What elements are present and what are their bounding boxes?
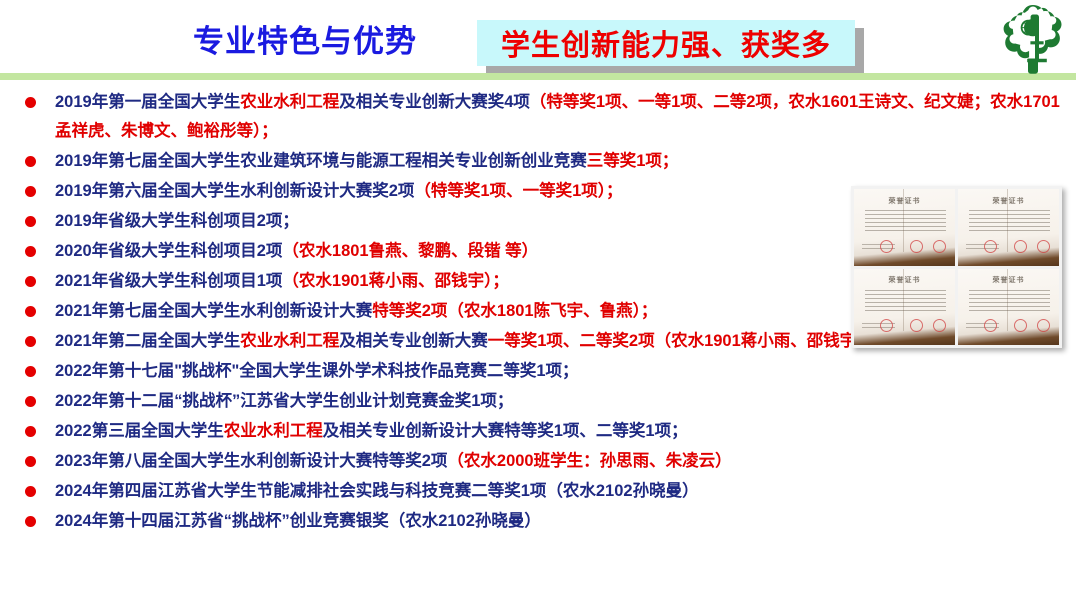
list-item-text: 2024年第十四届江苏省“挑战杯”创业竞赛银奖（农水2102孙晓曼） xyxy=(55,512,541,530)
list-item-text: 2019年第一届全国大学生 xyxy=(55,93,240,111)
certificate-seal-icon xyxy=(1014,240,1027,253)
list-item: 2019年第七届全国大学生农业建筑环境与能源工程相关专业创新创业竞赛三等奖1项； xyxy=(0,147,1076,176)
page-title: 专业特色与优势 xyxy=(193,20,417,64)
certificate-seal-icon xyxy=(910,319,923,332)
list-item-text: 2023年第八届全国大学生水利创新设计大赛特等奖2项 xyxy=(55,452,447,470)
list-item-text: 2019年第六届全国大学生水利创新设计大赛奖2项 xyxy=(55,182,414,200)
certificate-seal-icon xyxy=(933,319,946,332)
certificate-seal-icon xyxy=(1037,319,1050,332)
list-item-text: 农业水利工程 xyxy=(240,93,339,111)
certificate-text-lines xyxy=(969,210,1050,234)
certificate-tile: 荣誉证书 xyxy=(854,269,955,346)
list-item-text: 农业水利工程 xyxy=(240,332,339,350)
list-item: 2022年第十七届"挑战杯"全国大学生课外学术科技作品竞赛二等奖1项； xyxy=(0,357,1076,386)
list-item-text: 2024年第四届江苏省大学生节能减排社会实践与科技竞赛二等奖1项（农水2102孙… xyxy=(55,482,699,500)
list-item-text: （特等奖1项、一等奖1项）； xyxy=(414,182,622,200)
bullet-dot-icon xyxy=(25,97,36,108)
certificate-title: 荣誉证书 xyxy=(854,275,955,285)
list-item: 2022第三届全国大学生农业水利工程及相关专业创新设计大赛特等奖1项、二等奖1项… xyxy=(0,417,1076,446)
list-item-text: 2021年省级大学生科创项目1项 xyxy=(55,272,282,290)
bullet-dot-icon xyxy=(25,246,36,257)
list-item-text: 2020年省级大学生科创项目2项 xyxy=(55,242,282,260)
certificate-seal-icon xyxy=(910,240,923,253)
slide-header: 专业特色与优势 学生创新能力强、获奖多 xyxy=(0,0,1076,82)
certificate-seal-icon xyxy=(1014,319,1027,332)
list-item-text: 2022年第十七届"挑战杯"全国大学生课外学术科技作品竞赛二等奖1项； xyxy=(55,362,579,380)
list-item: 2022年第十二届“挑战杯”江苏省大学生创业计划竞赛金奖1项； xyxy=(0,387,1076,416)
list-item-text: 2021年第七届全国大学生水利创新设计大赛 xyxy=(55,302,372,320)
university-emblem-icon xyxy=(998,2,1068,74)
list-item-text: 2022年第十二届“挑战杯”江苏省大学生创业计划竞赛金奖1项； xyxy=(55,392,513,410)
list-item-text: 及相关专业创新大赛 xyxy=(339,332,488,350)
list-item: 2023年第八届全国大学生水利创新设计大赛特等奖2项（农水2000班学生：孙思雨… xyxy=(0,447,1076,476)
bullet-dot-icon xyxy=(25,336,36,347)
list-item-text: 特等奖2项（农水1801陈飞宇、鲁燕）； xyxy=(372,302,657,320)
certificate-text-lines xyxy=(865,290,946,314)
subtitle-box: 学生创新能力强、获奖多 xyxy=(477,20,855,66)
list-item-text: （农水2000班学生：孙思雨、朱凌云） xyxy=(447,452,731,470)
bullet-dot-icon xyxy=(25,306,36,317)
bullet-dot-icon xyxy=(25,396,36,407)
list-item-text: 农业水利工程 xyxy=(224,422,323,440)
certificate-title: 荣誉证书 xyxy=(854,196,955,206)
honor-certificates-photo: 荣誉证书 荣誉证书 荣誉证书 荣誉证书 xyxy=(851,186,1062,348)
certificate-tile: 荣誉证书 xyxy=(958,269,1059,346)
certificate-title: 荣誉证书 xyxy=(958,275,1059,285)
certificate-seal-icon xyxy=(1037,240,1050,253)
page-subtitle: 学生创新能力强、获奖多 xyxy=(501,22,831,64)
list-item-text: 2019年第七届全国大学生农业建筑环境与能源工程相关专业创新创业竞赛 xyxy=(55,152,587,170)
list-item-text: 2022第三届全国大学生 xyxy=(55,422,224,440)
bullet-dot-icon xyxy=(25,276,36,287)
bullet-dot-icon xyxy=(25,426,36,437)
certificate-tile: 荣誉证书 xyxy=(854,189,955,266)
certificate-seal-icon xyxy=(880,240,893,253)
list-item: 2024年第四届江苏省大学生节能减排社会实践与科技竞赛二等奖1项（农水2102孙… xyxy=(0,477,1076,506)
certificate-title: 荣誉证书 xyxy=(958,196,1059,206)
list-item-text: 及相关专业创新设计大赛特等奖1项、二等奖1项； xyxy=(323,422,688,440)
certificate-tile: 荣誉证书 xyxy=(958,189,1059,266)
certificate-text-lines xyxy=(865,210,946,234)
bullet-dot-icon xyxy=(25,486,36,497)
certificate-text-lines xyxy=(969,290,1050,314)
header-divider-green xyxy=(0,73,1076,80)
bullet-dot-icon xyxy=(25,366,36,377)
list-item: 2024年第十四届江苏省“挑战杯”创业竞赛银奖（农水2102孙晓曼） xyxy=(0,507,1076,536)
list-item: 2019年第一届全国大学生农业水利工程及相关专业创新大赛奖4项（特等奖1项、一等… xyxy=(0,88,1076,146)
bullet-dot-icon xyxy=(25,516,36,527)
list-item-text: （农水1901蒋小雨、邵钱宇）； xyxy=(282,272,508,290)
bullet-dot-icon xyxy=(25,156,36,167)
certificate-seal-icon xyxy=(933,240,946,253)
bullet-dot-icon xyxy=(25,216,36,227)
list-item-text: 及相关专业创新大赛奖4项 xyxy=(339,93,530,111)
list-item-text: 2019年省级大学生科创项目2项； xyxy=(55,212,299,230)
bullet-dot-icon xyxy=(25,186,36,197)
list-item-text: （农水1801鲁燕、黎鹏、段锴 等） xyxy=(282,242,538,260)
certificate-seal-icon xyxy=(984,240,997,253)
bullet-dot-icon xyxy=(25,456,36,467)
list-item-text: 三等奖1项； xyxy=(587,152,679,170)
list-item-text: 2021年第二届全国大学生 xyxy=(55,332,240,350)
header-divider-white xyxy=(0,80,1076,81)
